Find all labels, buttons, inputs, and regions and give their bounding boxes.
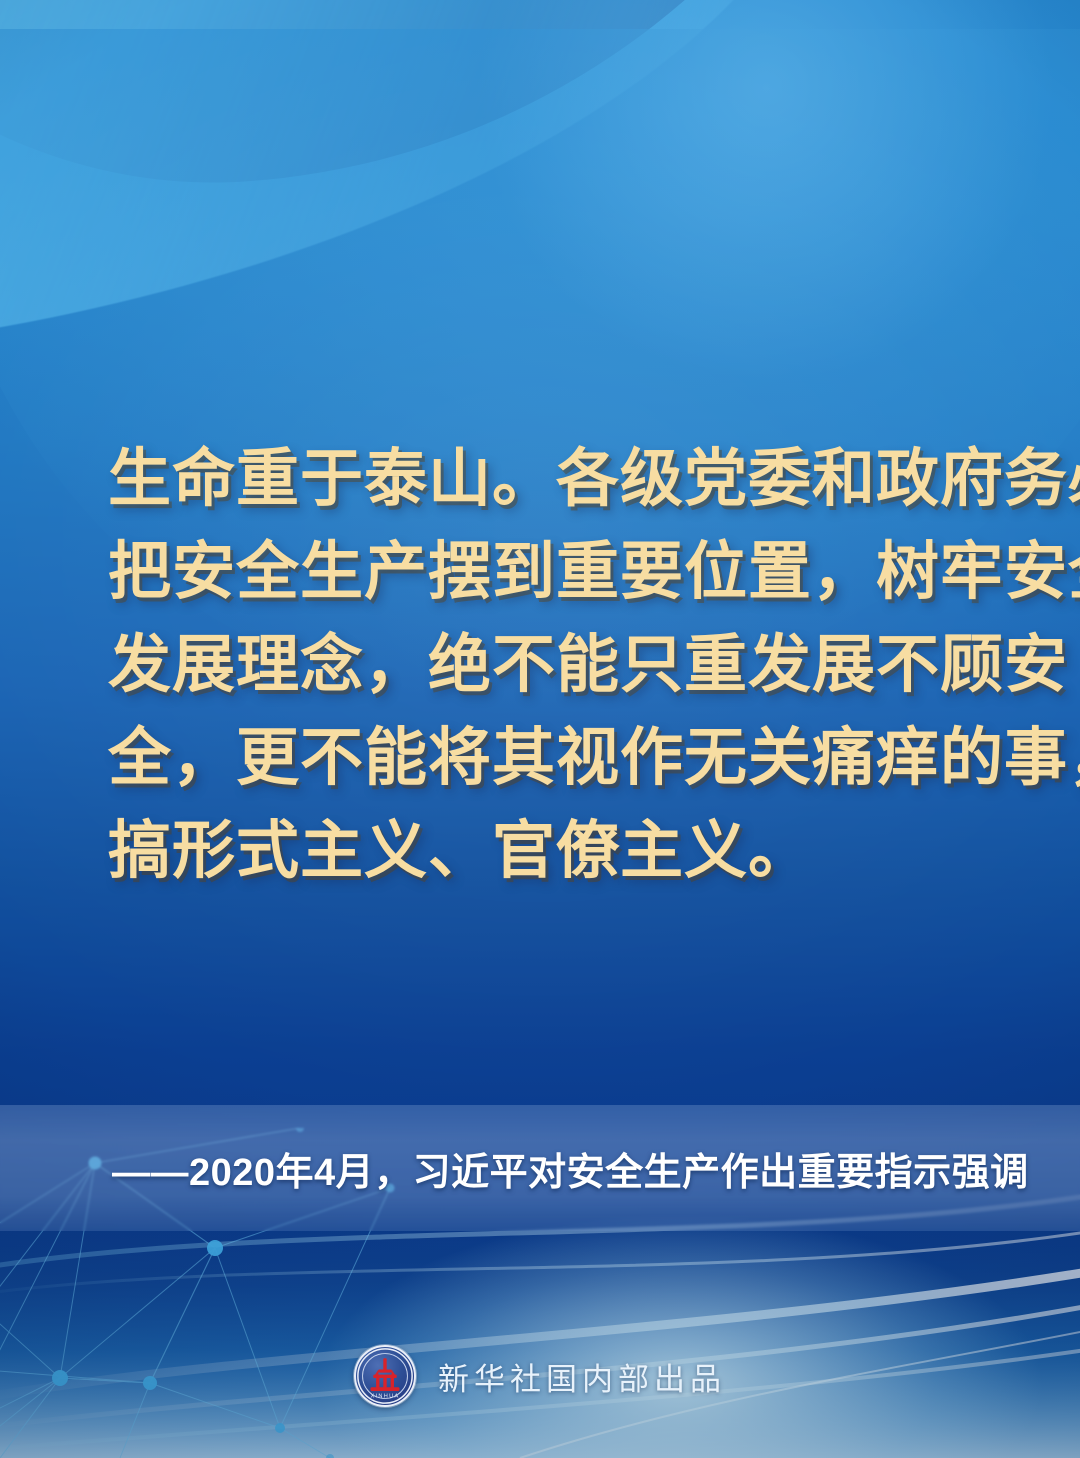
quote-line-3: 发展理念，绝不能只重发展不顾安 bbox=[108, 618, 998, 711]
footer: XINHUA 新华社国内部出品 bbox=[0, 1336, 1080, 1416]
quote-line-4: 全，更不能将其视作无关痛痒的事， bbox=[108, 711, 998, 804]
quote-block: 生命重于泰山。各级党委和政府务必 把安全生产摆到重要位置，树牢安全 发展理念，绝… bbox=[108, 432, 998, 897]
poster-canvas: 生命重于泰山。各级党委和政府务必 把安全生产摆到重要位置，树牢安全 发展理念，绝… bbox=[0, 0, 1080, 1458]
xinhua-emblem-icon: XINHUA bbox=[354, 1345, 416, 1407]
quote-line-5: 搞形式主义、官僚主义。 bbox=[108, 804, 998, 897]
svg-text:XINHUA: XINHUA bbox=[370, 1394, 399, 1400]
attribution-text: ——2020年4月，习近平对安全生产作出重要指示强调 bbox=[112, 1141, 1029, 1196]
quote-line-1: 生命重于泰山。各级党委和政府务必 bbox=[108, 432, 998, 525]
quote-line-2: 把安全生产摆到重要位置，树牢安全 bbox=[108, 525, 998, 618]
publisher-label: 新华社国内部出品 bbox=[438, 1354, 726, 1399]
attribution-band: ——2020年4月，习近平对安全生产作出重要指示强调 bbox=[0, 1105, 1080, 1231]
